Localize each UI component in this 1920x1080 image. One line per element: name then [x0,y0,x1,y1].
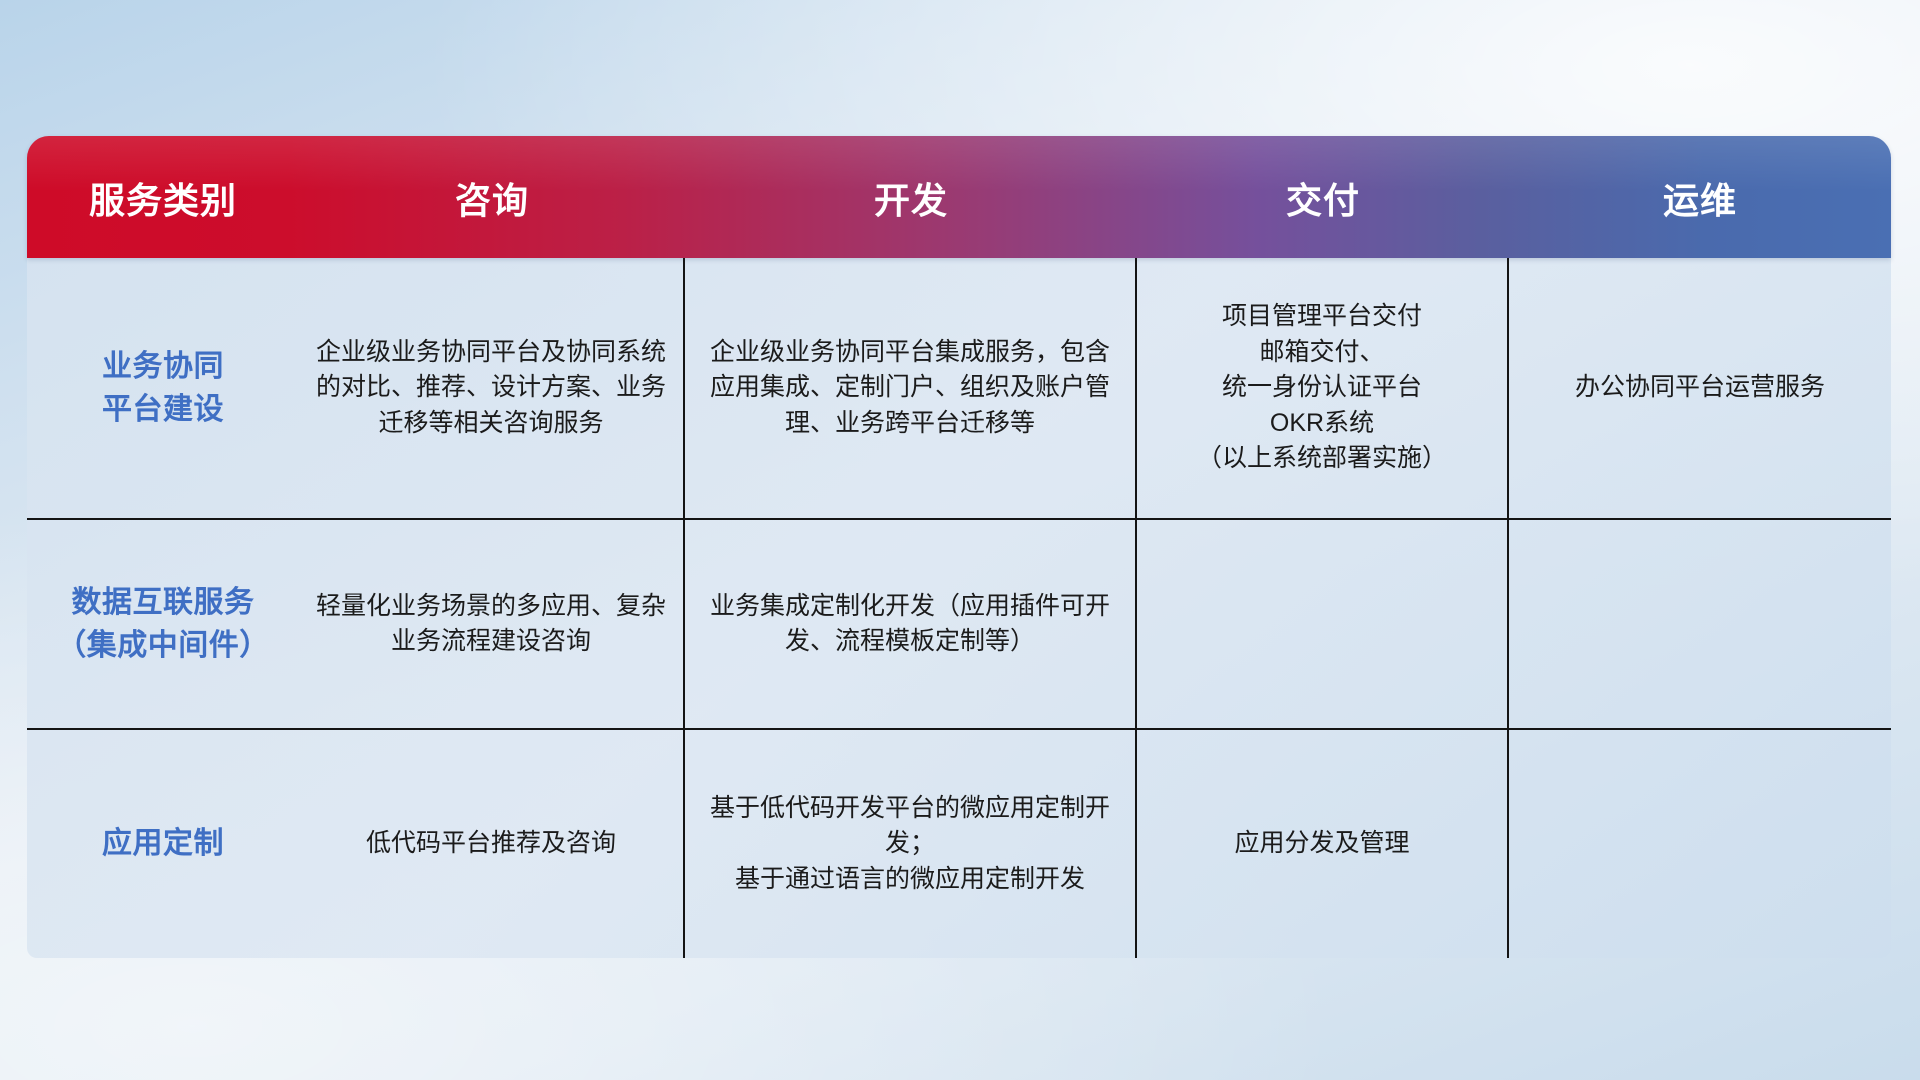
cell-delivery: 应用分发及管理 [1137,730,1509,958]
cell-operations: 办公协同平台运营服务 [1509,258,1891,518]
slide-canvas: 服务类别 咨询 开发 交付 运维 业务协同 平台建设 企业级业务协同平台及协同系… [0,0,1920,1080]
cell-development: 业务集成定制化开发（应用插件可开发、流程模板定制等） [685,520,1137,728]
cell-development: 企业级业务协同平台集成服务，包含应用集成、定制门户、组织及账户管理、业务跨平台迁… [685,258,1137,518]
table-body: 业务协同 平台建设 企业级业务协同平台及协同系统的对比、推荐、设计方案、业务迁移… [27,258,1891,958]
cell-consulting: 低代码平台推荐及咨询 [299,730,685,958]
cell-consulting: 轻量化业务场景的多应用、复杂业务流程建设咨询 [299,520,685,728]
category-text: 业务协同 平台建设 [102,345,224,432]
table-row: 业务协同 平台建设 企业级业务协同平台及协同系统的对比、推荐、设计方案、业务迁移… [27,258,1891,520]
cell-development: 基于低代码开发平台的微应用定制开发； 基于通过语言的微应用定制开发 [685,730,1137,958]
header-cell-operations: 运维 [1509,172,1891,258]
row-category-label: 业务协同 平台建设 [27,258,299,518]
table-row: 应用定制 低代码平台推荐及咨询 基于低代码开发平台的微应用定制开发； 基于通过语… [27,730,1891,958]
row-category-label: 数据互联服务 （集成中间件） [27,520,299,728]
cell-operations [1509,730,1891,958]
service-matrix-table: 服务类别 咨询 开发 交付 运维 业务协同 平台建设 企业级业务协同平台及协同系… [27,136,1891,958]
cell-consulting: 企业级业务协同平台及协同系统的对比、推荐、设计方案、业务迁移等相关咨询服务 [299,258,685,518]
header-cell-development: 开发 [685,172,1137,258]
cell-delivery [1137,520,1509,728]
header-cell-service-category: 服务类别 [27,172,299,258]
row-category-label: 应用定制 [27,730,299,958]
header-cell-delivery: 交付 [1137,172,1509,258]
category-text: 应用定制 [102,822,224,866]
table-header-row: 服务类别 咨询 开发 交付 运维 [27,136,1891,258]
category-text: 数据互联服务 （集成中间件） [56,581,270,668]
header-cell-consulting: 咨询 [299,172,685,258]
cell-operations [1509,520,1891,728]
table-row: 数据互联服务 （集成中间件） 轻量化业务场景的多应用、复杂业务流程建设咨询 业务… [27,520,1891,730]
cell-delivery: 项目管理平台交付 邮箱交付、 统一身份认证平台 OKR系统 （以上系统部署实施） [1137,258,1509,518]
